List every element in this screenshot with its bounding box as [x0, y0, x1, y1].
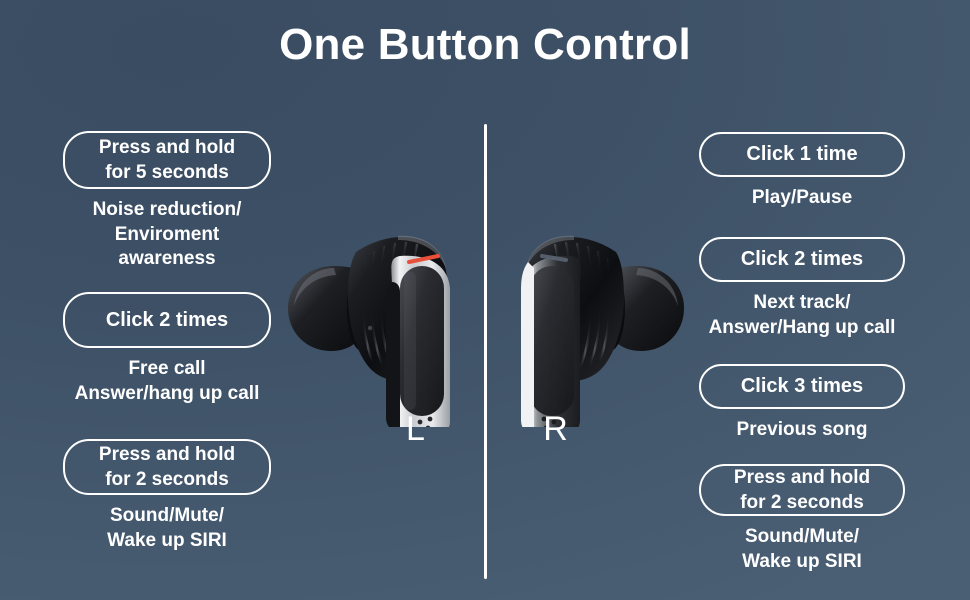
left-caption-3-line1: Sound/Mute/: [41, 504, 293, 529]
left-caption-3: Sound/Mute/ Wake up SIRI: [41, 504, 293, 553]
right-action-1-line1: Click 1 time: [746, 141, 857, 167]
right-caption-1-line1: Play/Pause: [682, 186, 922, 211]
left-caption-1-line2: Enviroment: [41, 223, 293, 248]
right-caption-4-line2: Wake up SIRI: [682, 550, 922, 575]
right-control-block-2: Click 2 times Next track/ Answer/Hang up…: [699, 237, 922, 340]
left-caption-1: Noise reduction/ Enviroment awareness: [41, 198, 293, 272]
right-action-4-line2: for 2 seconds: [740, 492, 864, 513]
one-button-control-infographic: One Button Control Press and hold for 5 …: [0, 0, 970, 600]
vertical-divider: [484, 124, 487, 579]
right-action-pill-4[interactable]: Press and hold for 2 seconds: [699, 464, 905, 516]
page-title: One Button Control: [0, 20, 970, 71]
left-caption-1-line3: awareness: [41, 247, 293, 272]
right-earbud-label: R: [526, 410, 586, 449]
left-action-3-line2: for 2 seconds: [105, 469, 229, 490]
left-caption-2-line1: Free call: [41, 357, 293, 382]
right-action-3-line1: Click 3 times: [741, 373, 863, 399]
right-action-4-line1: Press and hold: [734, 467, 870, 488]
left-control-block-3: Press and hold for 2 seconds Sound/Mute/…: [63, 439, 293, 553]
right-earbud-image: R: [494, 222, 694, 452]
right-action-2-line1: Click 2 times: [741, 246, 863, 272]
left-caption-1-line1: Noise reduction/: [41, 198, 293, 223]
right-caption-3-line1: Previous song: [682, 418, 922, 443]
right-action-pill-3[interactable]: Click 3 times: [699, 364, 905, 409]
left-caption-2: Free call Answer/hang up call: [41, 357, 293, 406]
left-action-1-line2: for 5 seconds: [105, 162, 229, 183]
left-action-3-line1: Press and hold: [99, 444, 235, 465]
right-caption-2-line1: Next track/: [682, 291, 922, 316]
right-action-pill-1[interactable]: Click 1 time: [699, 132, 905, 177]
right-action-pill-2[interactable]: Click 2 times: [699, 237, 905, 282]
right-caption-4: Sound/Mute/ Wake up SIRI: [682, 525, 922, 574]
left-action-pill-3[interactable]: Press and hold for 2 seconds: [63, 439, 271, 495]
right-control-block-3: Click 3 times Previous song: [699, 364, 922, 443]
right-caption-1: Play/Pause: [682, 186, 922, 211]
left-caption-2-line2: Answer/hang up call: [41, 382, 293, 407]
right-caption-4-line1: Sound/Mute/: [682, 525, 922, 550]
right-caption-2: Next track/ Answer/Hang up call: [682, 291, 922, 340]
left-action-pill-1[interactable]: Press and hold for 5 seconds: [63, 131, 271, 189]
right-caption-2-line2: Answer/Hang up call: [682, 316, 922, 341]
left-control-block-2: Click 2 times Free call Answer/hang up c…: [63, 292, 293, 406]
left-action-1-line1: Press and hold: [99, 137, 235, 158]
left-action-pill-2[interactable]: Click 2 times: [63, 292, 271, 348]
left-earbud-label: L: [386, 410, 446, 449]
left-action-2-line1: Click 2 times: [106, 307, 228, 333]
left-caption-3-line2: Wake up SIRI: [41, 529, 293, 554]
right-caption-3: Previous song: [682, 418, 922, 443]
left-control-block-1: Press and hold for 5 seconds Noise reduc…: [63, 131, 293, 272]
right-control-block-4: Press and hold for 2 seconds Sound/Mute/…: [699, 464, 922, 574]
left-earbud-image: L: [278, 222, 478, 452]
right-earbud-stem: [521, 256, 581, 427]
right-control-block-1: Click 1 time Play/Pause: [699, 132, 922, 211]
left-earbud-stem: [386, 256, 450, 427]
